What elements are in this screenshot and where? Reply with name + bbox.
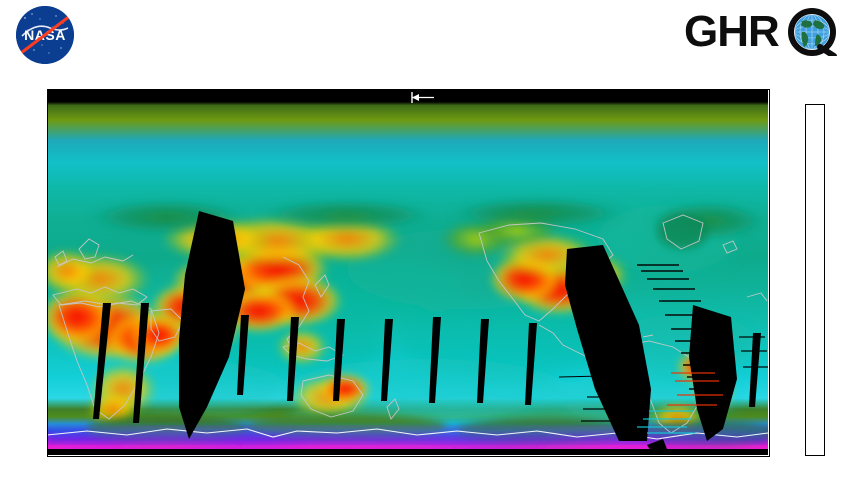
colorbar-gradient [805, 104, 825, 456]
world-brightness-temperature-map [47, 89, 768, 455]
svg-text:GHR: GHR [684, 8, 779, 56]
south-polar-nodata [47, 449, 768, 455]
nasa-logo: NASA [8, 6, 82, 68]
north-polar-nodata [47, 89, 768, 102]
brightness-temperature-figure: NASA GHR [0, 0, 854, 502]
ghrc-logo: GHR [684, 8, 846, 70]
scan-direction-arrow-icon [410, 90, 436, 101]
nasa-insignia-icon: NASA [16, 6, 74, 64]
